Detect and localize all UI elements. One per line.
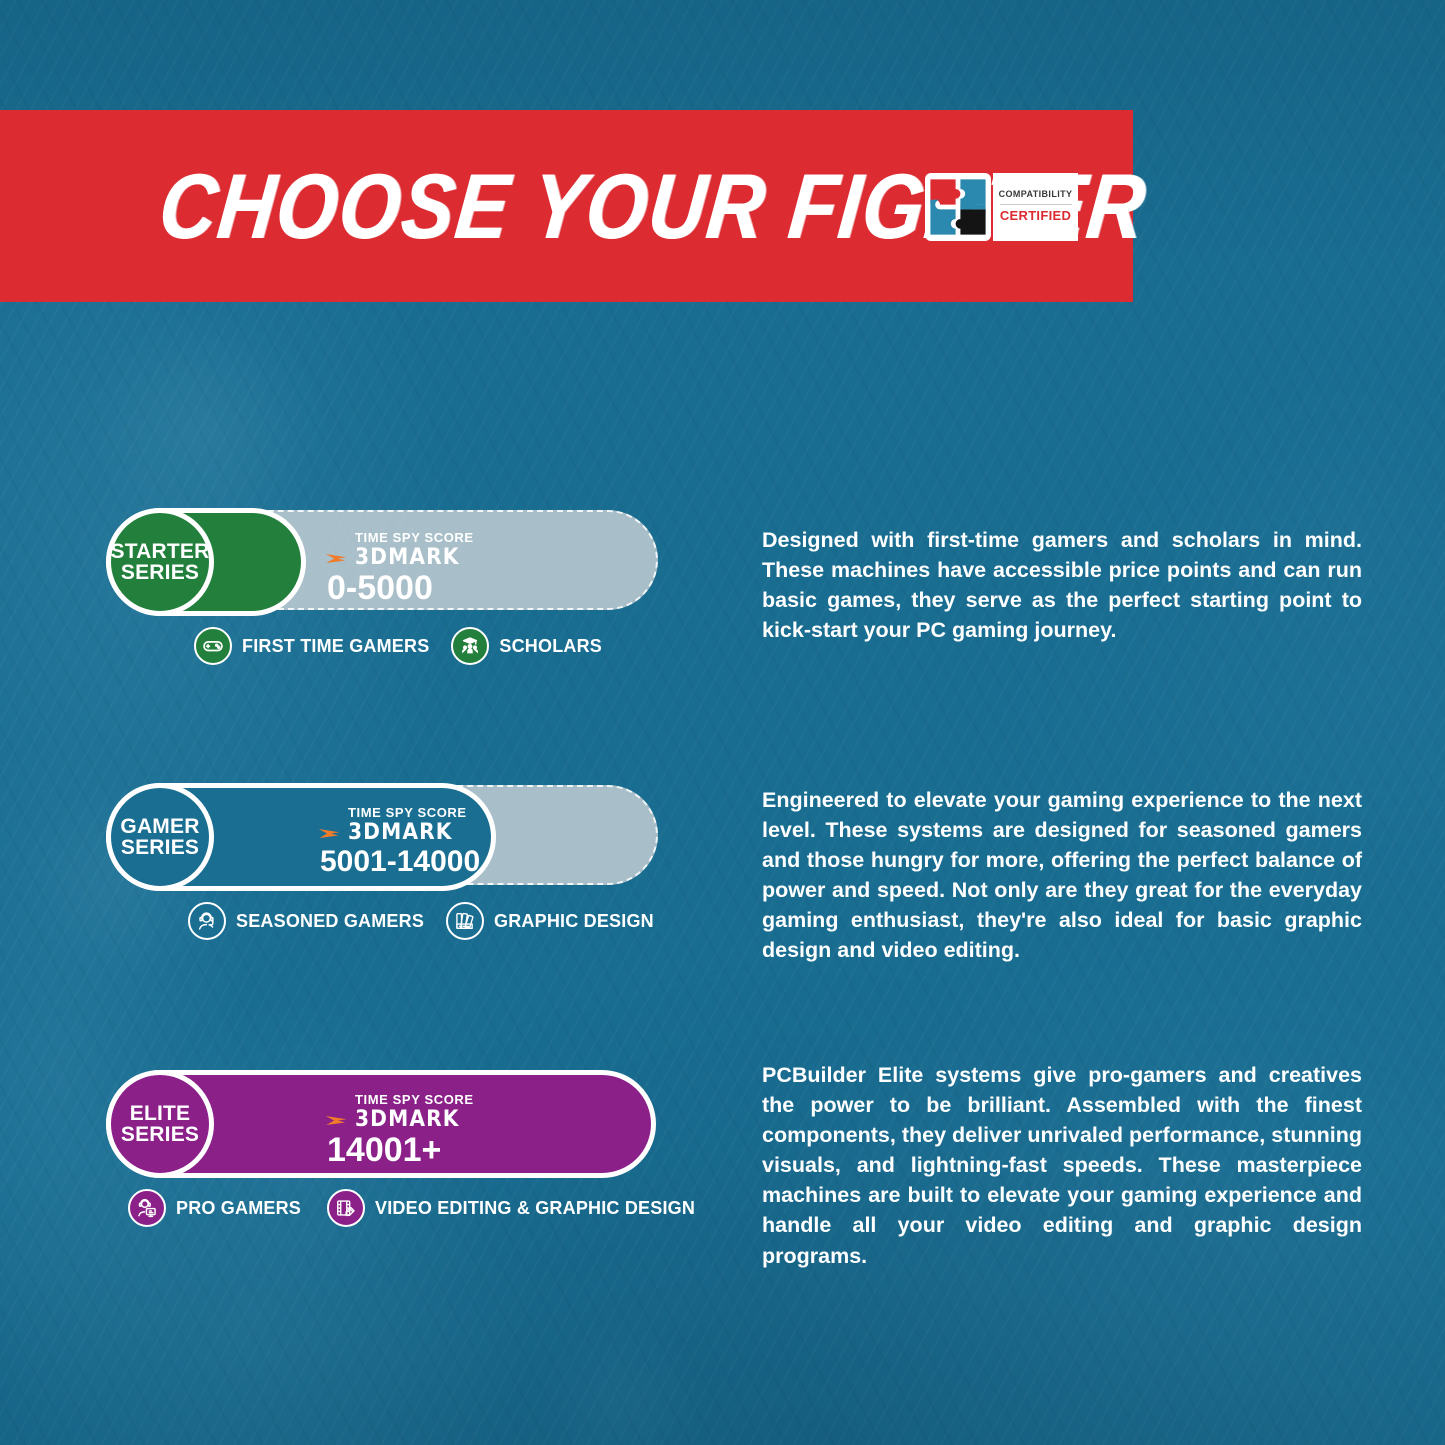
pro-gamer-monitor-icon bbox=[128, 1189, 166, 1227]
3dmark-swoosh-icon bbox=[318, 825, 344, 842]
series-badge-line2: SERIES bbox=[121, 562, 199, 583]
tag-label: FIRST TIME GAMERS bbox=[242, 636, 429, 657]
tag-label: PRO GAMERS bbox=[176, 1198, 301, 1219]
series-badge-line1: ELITE bbox=[130, 1103, 191, 1124]
tag-seasoned-gamers[interactable]: SEASONED GAMERS bbox=[188, 902, 424, 940]
3dmark-swoosh-icon bbox=[325, 1112, 351, 1129]
tag-label: SCHOLARS bbox=[499, 636, 602, 657]
tier-row-gamer: GAMER SERIES TIME SPY SCORE 3DMARK 5001-… bbox=[108, 785, 658, 885]
tag-label: SEASONED GAMERS bbox=[236, 911, 424, 932]
score-track-starter: STARTER SERIES TIME SPY SCORE 3DMARK 0-5… bbox=[108, 510, 658, 610]
description-starter: Designed with first-time gamers and scho… bbox=[762, 525, 1362, 645]
compat-divider bbox=[1000, 204, 1072, 205]
tags-starter: FIRST TIME GAMERS SCHOLARS bbox=[194, 627, 602, 665]
compat-line1: COMPATIBILITY bbox=[999, 190, 1073, 200]
brand-name: 3DMARK bbox=[348, 822, 453, 844]
tag-pro-gamers[interactable]: PRO GAMERS bbox=[128, 1189, 301, 1227]
graduation-group-icon bbox=[451, 627, 489, 665]
gamepad-icon bbox=[194, 627, 232, 665]
brand-row: 3DMARK bbox=[318, 822, 480, 844]
score-track-elite: ELITE SERIES TIME SPY SCORE 3DMARK 14001… bbox=[108, 1072, 658, 1172]
series-badge-elite: ELITE SERIES bbox=[106, 1070, 214, 1178]
series-badge-line1: STARTER bbox=[111, 541, 210, 562]
score-value: 5001-14000 bbox=[318, 846, 480, 878]
brand-row: 3DMARK bbox=[325, 547, 474, 569]
tags-gamer: SEASONED GAMERS GRAPHIC DESIGN bbox=[188, 902, 654, 940]
score-block-elite: TIME SPY SCORE 3DMARK 14001+ bbox=[325, 1093, 474, 1169]
tag-first-time-gamers[interactable]: FIRST TIME GAMERS bbox=[194, 627, 429, 665]
tags-elite: PRO GAMERS VIDEO EDITING & GRAPHIC DESIG… bbox=[128, 1189, 695, 1227]
series-badge-line2: SERIES bbox=[121, 837, 199, 858]
series-badge-starter: STARTER SERIES bbox=[106, 508, 214, 616]
score-block-gamer: TIME SPY SCORE 3DMARK 5001-14000 bbox=[318, 806, 480, 878]
film-pencil-icon bbox=[327, 1189, 365, 1227]
score-track-gamer: GAMER SERIES TIME SPY SCORE 3DMARK 5001-… bbox=[108, 785, 658, 885]
brand-name: 3DMARK bbox=[355, 1109, 460, 1131]
score-label: TIME SPY SCORE bbox=[325, 531, 474, 544]
score-label: TIME SPY SCORE bbox=[325, 1093, 474, 1106]
score-value: 0-5000 bbox=[325, 571, 474, 607]
score-label: TIME SPY SCORE bbox=[318, 806, 480, 819]
puzzle-icon bbox=[925, 173, 991, 241]
tag-graphic-design[interactable]: GRAPHIC DESIGN bbox=[446, 902, 654, 940]
color-swatch-icon bbox=[446, 902, 484, 940]
headset-gamer-icon bbox=[188, 902, 226, 940]
brand-name: 3DMARK bbox=[355, 547, 460, 569]
compatibility-certified-badge: COMPATIBILITY CERTIFIED bbox=[925, 173, 1078, 241]
tier-row-elite: ELITE SERIES TIME SPY SCORE 3DMARK 14001… bbox=[108, 1072, 658, 1172]
tag-label: VIDEO EDITING & GRAPHIC DESIGN bbox=[375, 1198, 695, 1219]
description-elite: PCBuilder Elite systems give pro-gamers … bbox=[762, 1060, 1362, 1271]
3dmark-swoosh-icon bbox=[325, 550, 351, 567]
compat-line2: CERTIFIED bbox=[1000, 209, 1071, 223]
tag-video-editing-graphic-design[interactable]: VIDEO EDITING & GRAPHIC DESIGN bbox=[327, 1189, 695, 1227]
series-badge-gamer: GAMER SERIES bbox=[106, 783, 214, 891]
score-block-starter: TIME SPY SCORE 3DMARK 0-5000 bbox=[325, 531, 474, 607]
tag-scholars[interactable]: SCHOLARS bbox=[451, 627, 602, 665]
tier-row-starter: STARTER SERIES TIME SPY SCORE 3DMARK 0-5… bbox=[108, 510, 658, 610]
description-gamer: Engineered to elevate your gaming experi… bbox=[762, 785, 1362, 966]
series-badge-line2: SERIES bbox=[121, 1124, 199, 1145]
brand-row: 3DMARK bbox=[325, 1109, 474, 1131]
compat-text-block: COMPATIBILITY CERTIFIED bbox=[993, 173, 1078, 241]
score-value: 14001+ bbox=[325, 1133, 474, 1169]
series-badge-line1: GAMER bbox=[120, 816, 199, 837]
tag-label: GRAPHIC DESIGN bbox=[494, 911, 654, 932]
